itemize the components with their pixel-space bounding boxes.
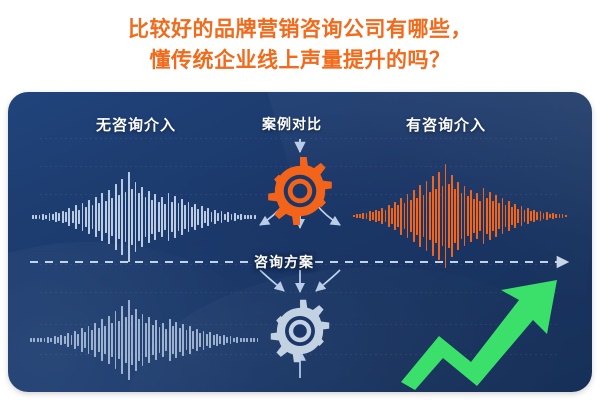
waveform-bar bbox=[209, 332, 211, 348]
waveform-bar bbox=[246, 338, 248, 341]
waveform-bar bbox=[543, 213, 545, 219]
waveform-bar bbox=[233, 338, 235, 343]
waveform-bar bbox=[33, 338, 35, 342]
gear-icon-orange bbox=[263, 154, 337, 233]
waveform-bar bbox=[243, 338, 245, 343]
waveform-bar bbox=[40, 338, 42, 343]
waveform-bar bbox=[540, 211, 542, 221]
waveform-bar bbox=[206, 334, 208, 346]
waveform-bar bbox=[413, 190, 415, 243]
waveform-bar bbox=[536, 212, 538, 219]
label-no-consulting: 无咨询介入 bbox=[96, 114, 176, 135]
waveform-bar bbox=[423, 195, 425, 238]
waveform-bar bbox=[135, 309, 137, 371]
waveform-bar bbox=[527, 208, 529, 225]
waveform-bar bbox=[49, 213, 51, 221]
waveform-bar bbox=[457, 182, 459, 250]
waveform-bar bbox=[224, 214, 226, 220]
waveform-bar bbox=[105, 201, 107, 234]
waveform-bar bbox=[71, 335, 73, 344]
waveform-bar bbox=[50, 338, 52, 343]
waveform-bar bbox=[495, 195, 497, 237]
waveform-bar bbox=[230, 336, 232, 343]
waveform-bar bbox=[353, 215, 355, 218]
waveform-bar bbox=[385, 210, 387, 223]
waveform-bar bbox=[192, 331, 194, 348]
waveform-bar bbox=[461, 193, 463, 239]
waveform-bar bbox=[92, 205, 94, 229]
waveform-bar bbox=[104, 326, 106, 355]
waveform-bar bbox=[108, 316, 110, 364]
waveform-bar bbox=[175, 322, 177, 358]
waveform-bar bbox=[196, 329, 198, 351]
waveform-bar bbox=[62, 211, 64, 224]
waveform-bar bbox=[257, 338, 259, 341]
waveform-bar bbox=[67, 333, 69, 346]
waveform-bar bbox=[214, 210, 216, 225]
waveform-bar bbox=[514, 204, 516, 229]
waveform-bar bbox=[98, 203, 100, 230]
waveform-bar bbox=[217, 213, 219, 221]
waveform-bar bbox=[502, 198, 504, 233]
waveform-bar bbox=[197, 209, 199, 225]
waveform-bar bbox=[356, 214, 358, 219]
waveform-bar bbox=[404, 203, 406, 229]
waveform-bar bbox=[128, 172, 130, 263]
waveform-bar bbox=[400, 198, 402, 235]
waveform-bar bbox=[84, 332, 86, 348]
waveform-bar bbox=[159, 327, 161, 353]
waveform-bar bbox=[378, 211, 380, 221]
waveform-bar bbox=[108, 190, 110, 245]
waveform-bar bbox=[174, 196, 176, 238]
waveform-bar bbox=[162, 323, 164, 358]
waveform-bar bbox=[426, 181, 428, 251]
waveform-bar bbox=[77, 334, 79, 346]
waveform-bar bbox=[473, 199, 475, 233]
waveform-bar bbox=[204, 211, 206, 224]
waveform-bar bbox=[388, 205, 390, 227]
waveform-bar bbox=[131, 189, 133, 245]
waveform-bar bbox=[155, 320, 157, 360]
waveform-bar bbox=[372, 212, 374, 219]
waveform-bar bbox=[65, 212, 67, 221]
waveform-bar bbox=[145, 323, 147, 358]
waveform-bar bbox=[189, 326, 191, 353]
waveform-bar bbox=[54, 336, 56, 344]
waveform-bar bbox=[164, 204, 166, 229]
waveform-bar bbox=[498, 203, 500, 229]
gear-icon-gray bbox=[266, 297, 334, 370]
waveform-bar bbox=[448, 184, 450, 249]
waveform-bar bbox=[169, 319, 171, 360]
waveform-bar bbox=[47, 337, 49, 344]
waveform-bar bbox=[438, 172, 440, 261]
waveform-bar bbox=[555, 214, 557, 218]
waveform-bar bbox=[161, 197, 163, 237]
infographic-root: 比较好的品牌营销咨询公司有哪些， 懂传统企业线上声量提升的吗？ 无咨询介入 案例… bbox=[0, 0, 600, 400]
waveform-bar bbox=[121, 306, 123, 374]
waveform-bar bbox=[244, 215, 246, 219]
waveform-bar bbox=[75, 205, 77, 229]
label-case-comparison: 案例对比 bbox=[262, 114, 322, 134]
waveform-bar bbox=[81, 328, 83, 351]
label-with-consulting: 有咨询介入 bbox=[406, 114, 486, 135]
waveform-bar bbox=[68, 208, 70, 226]
waveform-bar bbox=[381, 208, 383, 225]
waveform-bar bbox=[240, 214, 242, 219]
waveform-bar bbox=[227, 212, 229, 221]
waveform-bar bbox=[128, 300, 130, 379]
waveform-bar bbox=[138, 193, 140, 240]
waveform-bar bbox=[549, 214, 551, 219]
waveform-bar bbox=[236, 337, 238, 344]
waveform-bar bbox=[410, 200, 412, 231]
waveform-bar bbox=[188, 202, 190, 233]
waveform-bar bbox=[253, 338, 255, 341]
waveform-bar bbox=[194, 204, 196, 229]
waveform-bar bbox=[226, 337, 228, 343]
growth-arrow-icon bbox=[393, 270, 568, 392]
waveform-bar bbox=[435, 189, 437, 243]
waveform-bar bbox=[483, 188, 485, 244]
waveform-bar bbox=[565, 215, 567, 218]
waveform-bar bbox=[199, 333, 201, 347]
waveform-bar bbox=[72, 211, 74, 223]
waveform-bar bbox=[88, 200, 90, 235]
waveform-bar bbox=[432, 176, 434, 256]
waveform-bar bbox=[524, 210, 526, 222]
page-title: 比较好的品牌营销咨询公司有哪些， 懂传统企业线上声量提升的吗？ bbox=[0, 14, 600, 76]
waveform-bar bbox=[213, 335, 215, 344]
waveform-bar bbox=[559, 214, 561, 219]
waveform-bar bbox=[91, 330, 93, 350]
waveform-bar bbox=[148, 317, 150, 362]
waveform-bar bbox=[82, 203, 84, 230]
label-consulting-plan: 咨询方案 bbox=[254, 252, 314, 272]
waveform-bar bbox=[391, 208, 393, 225]
waveform-bar bbox=[37, 338, 39, 341]
waveform-bar bbox=[142, 314, 144, 366]
waveform-bar bbox=[52, 214, 54, 219]
waveform-bar bbox=[445, 164, 447, 268]
waveform-bar bbox=[141, 187, 143, 247]
waveform-bar bbox=[530, 211, 532, 220]
waveform-bar bbox=[467, 196, 469, 236]
waveform-bar bbox=[154, 194, 156, 239]
waveform-bar bbox=[254, 215, 256, 219]
waveform-bar bbox=[115, 184, 117, 249]
waveform-bar bbox=[60, 335, 62, 346]
waveform-bar bbox=[442, 186, 444, 245]
waveform-bar bbox=[203, 331, 205, 350]
waveform-bar bbox=[221, 211, 223, 223]
waveform-bar bbox=[168, 193, 170, 240]
waveform-bar bbox=[552, 213, 554, 219]
waveform-bar bbox=[158, 202, 160, 231]
waveform-bar bbox=[211, 212, 213, 222]
waveform-bar bbox=[101, 319, 103, 360]
waveform-bar bbox=[191, 207, 193, 227]
waveform-bar bbox=[64, 336, 66, 343]
waveform-bar bbox=[95, 197, 97, 237]
waveform-bar bbox=[98, 328, 100, 352]
waveform-bar bbox=[138, 319, 140, 360]
waveform-bar bbox=[182, 324, 184, 355]
waveform-bar bbox=[454, 189, 456, 243]
waveform-bar bbox=[181, 199, 183, 235]
waveform-bar bbox=[521, 206, 523, 226]
waveform-bar bbox=[121, 179, 123, 255]
waveform-bar bbox=[546, 212, 548, 220]
waveform-bar bbox=[32, 215, 34, 219]
waveform-bar bbox=[85, 207, 87, 227]
waveform-bar bbox=[250, 338, 252, 342]
waveform-bar bbox=[39, 215, 41, 219]
waveform-bar bbox=[58, 213, 60, 220]
waveform-bar bbox=[397, 205, 399, 226]
waveform-bar bbox=[145, 197, 147, 237]
waveform-top-left bbox=[32, 162, 257, 272]
page-title-line-1: 比较好的品牌营销咨询公司有哪些， bbox=[128, 18, 472, 41]
waveform-bar bbox=[429, 192, 431, 240]
waveform-bar bbox=[489, 192, 491, 240]
waveform-bar bbox=[375, 210, 377, 223]
waveform-bottom-left bbox=[30, 290, 260, 390]
waveform-bar bbox=[94, 323, 96, 358]
waveform-bar bbox=[115, 311, 117, 369]
waveform-bar bbox=[451, 175, 453, 256]
waveform-bar bbox=[362, 213, 364, 219]
waveform-bar bbox=[131, 315, 133, 365]
waveform-bar bbox=[394, 202, 396, 231]
waveform-bar bbox=[88, 326, 90, 354]
waveform-bar bbox=[135, 182, 137, 253]
waveform-bar bbox=[55, 212, 57, 223]
waveform-bar bbox=[508, 201, 510, 231]
waveform-bar bbox=[492, 201, 494, 232]
waveform-bar bbox=[511, 207, 513, 226]
waveform-bar bbox=[416, 198, 418, 235]
waveform-bar bbox=[152, 325, 154, 355]
waveform-bar bbox=[151, 200, 153, 235]
waveform-bar bbox=[45, 215, 47, 220]
waveform-top-right bbox=[353, 160, 568, 272]
waveform-bar bbox=[35, 215, 37, 220]
waveform-bar bbox=[562, 214, 564, 218]
waveform-bar bbox=[237, 215, 239, 220]
waveform-bar bbox=[476, 193, 478, 239]
waveform-bar bbox=[517, 209, 519, 224]
waveform-bar bbox=[111, 323, 113, 357]
waveform-bar bbox=[247, 215, 249, 220]
comparison-card: 无咨询介入 案例对比 有咨询介入 bbox=[8, 92, 592, 392]
waveform-bar bbox=[240, 338, 242, 342]
waveform-bar bbox=[366, 213, 368, 219]
waveform-bar bbox=[148, 191, 150, 244]
waveform-bar bbox=[231, 214, 233, 219]
waveform-bar bbox=[250, 215, 252, 219]
waveform-bar bbox=[165, 329, 167, 351]
waveform-bar bbox=[219, 336, 221, 343]
waveform-bar bbox=[186, 330, 188, 351]
waveform-bar bbox=[30, 338, 32, 341]
waveform-bar bbox=[223, 335, 225, 345]
waveform-bar bbox=[44, 338, 46, 342]
waveform-bar bbox=[74, 331, 76, 349]
waveform-bar bbox=[419, 185, 421, 246]
waveform-bar bbox=[118, 195, 120, 239]
waveform-bar bbox=[505, 205, 507, 227]
waveform-bar bbox=[234, 213, 236, 220]
waveform-bar bbox=[216, 334, 218, 346]
waveform-bar bbox=[201, 206, 203, 228]
waveform-bar bbox=[369, 211, 371, 220]
waveform-bar bbox=[184, 205, 186, 229]
waveform-bar bbox=[118, 321, 120, 360]
waveform-bar bbox=[359, 214, 361, 218]
waveform-bar bbox=[78, 210, 80, 225]
waveform-bar bbox=[533, 210, 535, 223]
waveform-bar bbox=[125, 317, 127, 362]
waveform-bar bbox=[101, 193, 103, 240]
waveform-bar bbox=[464, 186, 466, 245]
waveform-bar bbox=[179, 328, 181, 352]
waveform-bar bbox=[479, 201, 481, 231]
waveform-bar bbox=[42, 214, 44, 220]
waveform-bar bbox=[207, 208, 209, 226]
page-title-line-2: 懂传统企业线上声量提升的吗？ bbox=[0, 45, 600, 76]
waveform-bar bbox=[57, 337, 59, 343]
waveform-bar bbox=[178, 203, 180, 230]
waveform-bar bbox=[125, 192, 127, 243]
waveform-bar bbox=[171, 202, 173, 233]
waveform-bar bbox=[111, 198, 113, 236]
waveform-bar bbox=[470, 190, 472, 242]
waveform-bar bbox=[486, 198, 488, 233]
waveform-bar bbox=[407, 194, 409, 238]
waveform-bar bbox=[172, 326, 174, 353]
